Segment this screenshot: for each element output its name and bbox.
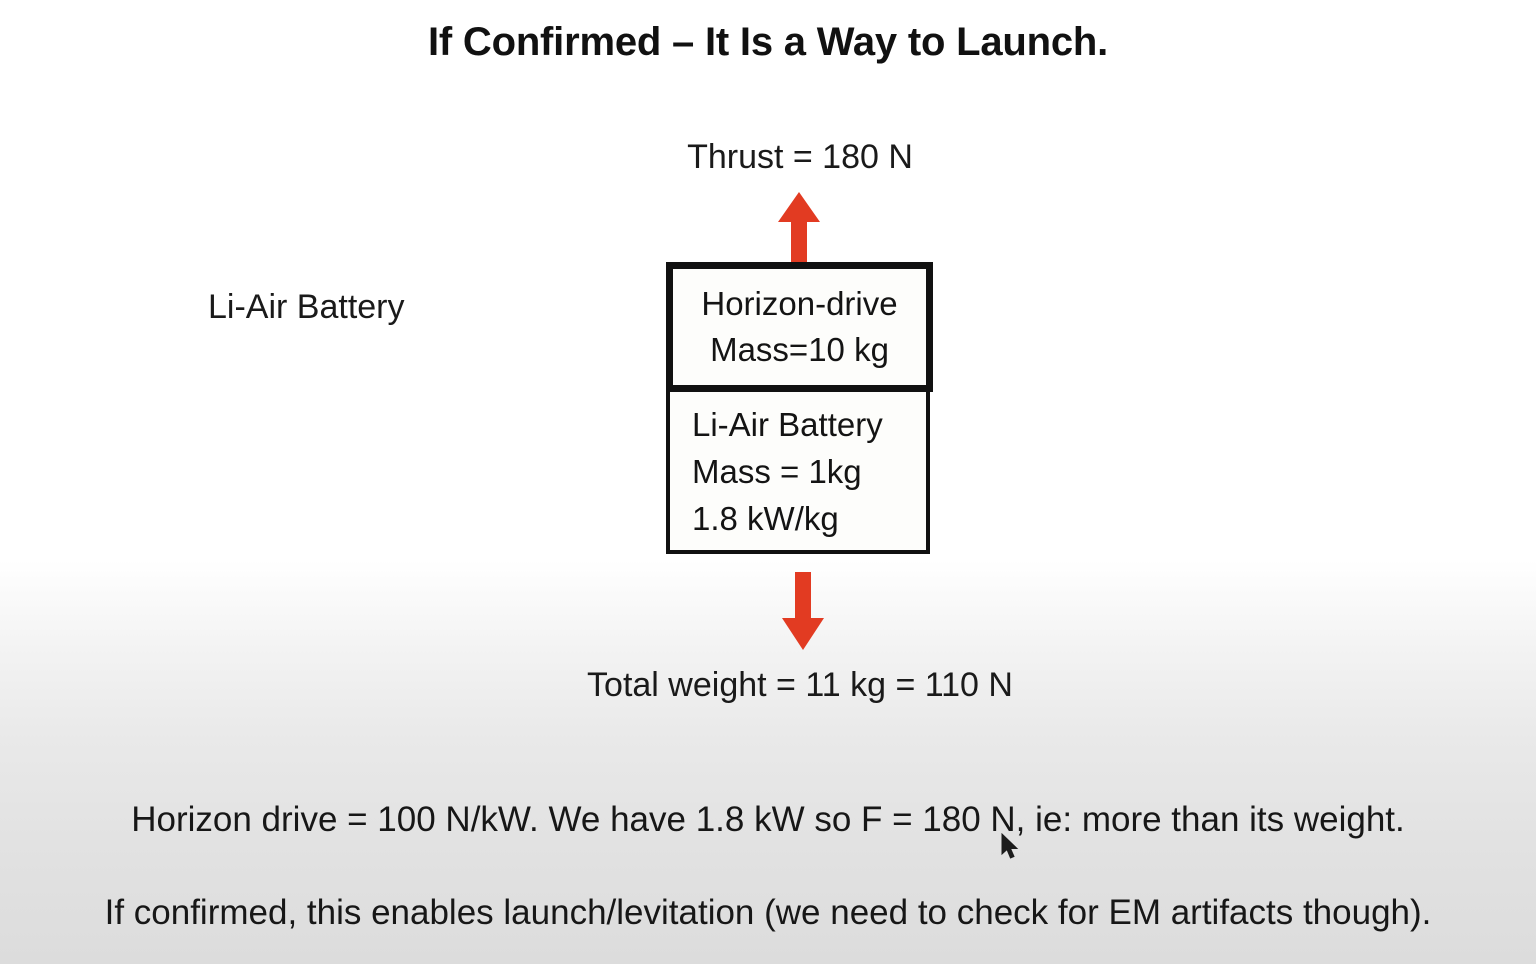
horizon-drive-mass: Mass=10 kg: [710, 327, 889, 373]
horizon-drive-box: Horizon-drive Mass=10 kg: [666, 262, 933, 392]
thrust-label: Thrust = 180 N: [500, 138, 1100, 177]
battery-name: Li-Air Battery: [692, 401, 883, 448]
battery-mass: Mass = 1kg: [692, 448, 862, 495]
note-line-2: If confirmed, this enables launch/levita…: [0, 893, 1536, 933]
horizon-drive-name: Horizon-drive: [701, 281, 897, 327]
slide-canvas: If Confirmed – It Is a Way to Launch. Th…: [0, 0, 1536, 964]
battery-specific-power: 1.8 kW/kg: [692, 495, 839, 542]
li-air-battery-box: Li-Air Battery Mass = 1kg 1.8 kW/kg: [666, 392, 930, 554]
note-line-1: Horizon drive = 100 N/kW. We have 1.8 kW…: [0, 800, 1536, 840]
side-label-li-air-battery: Li-Air Battery: [208, 288, 405, 327]
page-title: If Confirmed – It Is a Way to Launch.: [0, 20, 1536, 65]
total-weight-label: Total weight = 11 kg = 110 N: [300, 666, 1300, 705]
weight-arrow-down-icon: [782, 572, 824, 650]
